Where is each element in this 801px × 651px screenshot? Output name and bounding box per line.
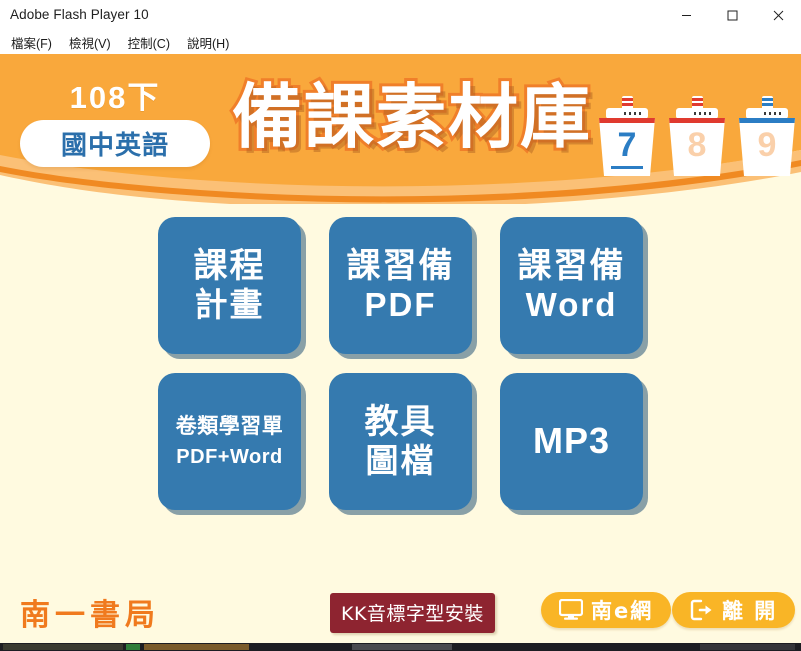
grade-selector: 7 8 — [596, 94, 798, 178]
menu-item-help[interactable]: 說明(H) — [184, 31, 238, 54]
grade-tab-8[interactable]: 8 — [666, 94, 728, 178]
tile-row-2: 卷類學習單 PDF+Word 教具 圖檔 MP3 — [158, 373, 643, 510]
kk-font-install-button[interactable]: KK音標字型安裝 — [330, 593, 495, 633]
window-titlebar: Adobe Flash Player 10 — [0, 0, 801, 31]
tile-line2: 計畫 — [195, 287, 265, 324]
exit-label: 離 開 — [722, 595, 777, 625]
term-badge: 108下 國中英語 — [20, 82, 210, 167]
tile-lesson-prep-word[interactable]: 課習備 Word — [500, 217, 643, 354]
publisher-logo: 南一書局 — [20, 590, 160, 634]
window-controls — [663, 0, 801, 31]
flash-player-window: Adobe Flash Player 10 檔案(F) 檢視(V) 控制(C) … — [0, 0, 801, 651]
minimize-button[interactable] — [663, 0, 709, 31]
tile-line1: 課程 — [194, 247, 266, 285]
nan-e-web-button[interactable]: 南e網 — [541, 592, 671, 628]
window-title: Adobe Flash Player 10 — [10, 7, 149, 22]
grade-number-9: 9 — [736, 128, 798, 162]
tile-line2: PDF+Word — [176, 446, 282, 468]
exit-button[interactable]: 離 開 — [672, 592, 795, 628]
taskbar-segment — [3, 644, 123, 650]
term-label: 108下 — [20, 82, 210, 113]
desktop-taskbar-sliver — [0, 643, 801, 651]
grade-tab-9[interactable]: 9 — [736, 94, 798, 178]
nan-e-web-label: 南e網 — [591, 595, 653, 625]
maximize-button[interactable] — [709, 0, 755, 31]
close-button[interactable] — [755, 0, 801, 31]
menu-item-view[interactable]: 檢視(V) — [66, 31, 120, 54]
tile-line1: MP3 — [533, 421, 610, 461]
taskbar-segment — [144, 644, 249, 650]
tile-line1: 卷類學習單 — [176, 415, 284, 439]
grade-tab-7[interactable]: 7 — [596, 94, 658, 178]
menubar: 檔案(F) 檢視(V) 控制(C) 說明(H) — [0, 31, 801, 54]
exit-icon — [690, 599, 714, 621]
footer-bar: 南一書局 KK音標字型安裝 南e網 離 開 — [0, 584, 801, 643]
grade-active-underline — [611, 166, 643, 169]
app-main-title: 備課素材庫 — [222, 62, 602, 172]
tile-course-plan[interactable]: 課程 計畫 — [158, 217, 301, 354]
tile-row-1: 課程 計畫 課習備 PDF 課習備 Word — [158, 217, 643, 354]
tile-line2: Word — [526, 287, 618, 324]
resource-tile-grid: 課程 計畫 課習備 PDF 課習備 Word 卷類學習單 PDF+Word — [0, 217, 801, 510]
menu-item-control[interactable]: 控制(C) — [125, 31, 179, 54]
taskbar-segment — [352, 644, 452, 650]
tile-line2: 圖檔 — [366, 443, 436, 480]
grade-number-8: 8 — [666, 128, 728, 162]
tile-line1: 課習備 — [518, 247, 626, 285]
taskbar-segment — [700, 644, 795, 650]
menu-item-file[interactable]: 檔案(F) — [8, 31, 61, 54]
subject-pill: 國中英語 — [20, 120, 210, 167]
tile-worksheet-pdf-word[interactable]: 卷類學習單 PDF+Word — [158, 373, 301, 510]
monitor-icon — [559, 599, 583, 621]
tile-line2: PDF — [365, 287, 437, 324]
tile-mp3[interactable]: MP3 — [500, 373, 643, 510]
tile-line1: 課習備 — [347, 247, 455, 285]
flash-stage: 108下 國中英語 備課素材庫 7 — [0, 54, 801, 643]
grade-number-7: 7 — [596, 128, 658, 162]
taskbar-segment — [126, 644, 140, 650]
main-title-text: 備課素材庫 — [232, 82, 592, 152]
tile-lesson-prep-pdf[interactable]: 課習備 PDF — [329, 217, 472, 354]
tile-line1: 教具 — [365, 403, 437, 441]
subject-label: 國中英語 — [61, 125, 169, 162]
tile-teaching-aid-images[interactable]: 教具 圖檔 — [329, 373, 472, 510]
